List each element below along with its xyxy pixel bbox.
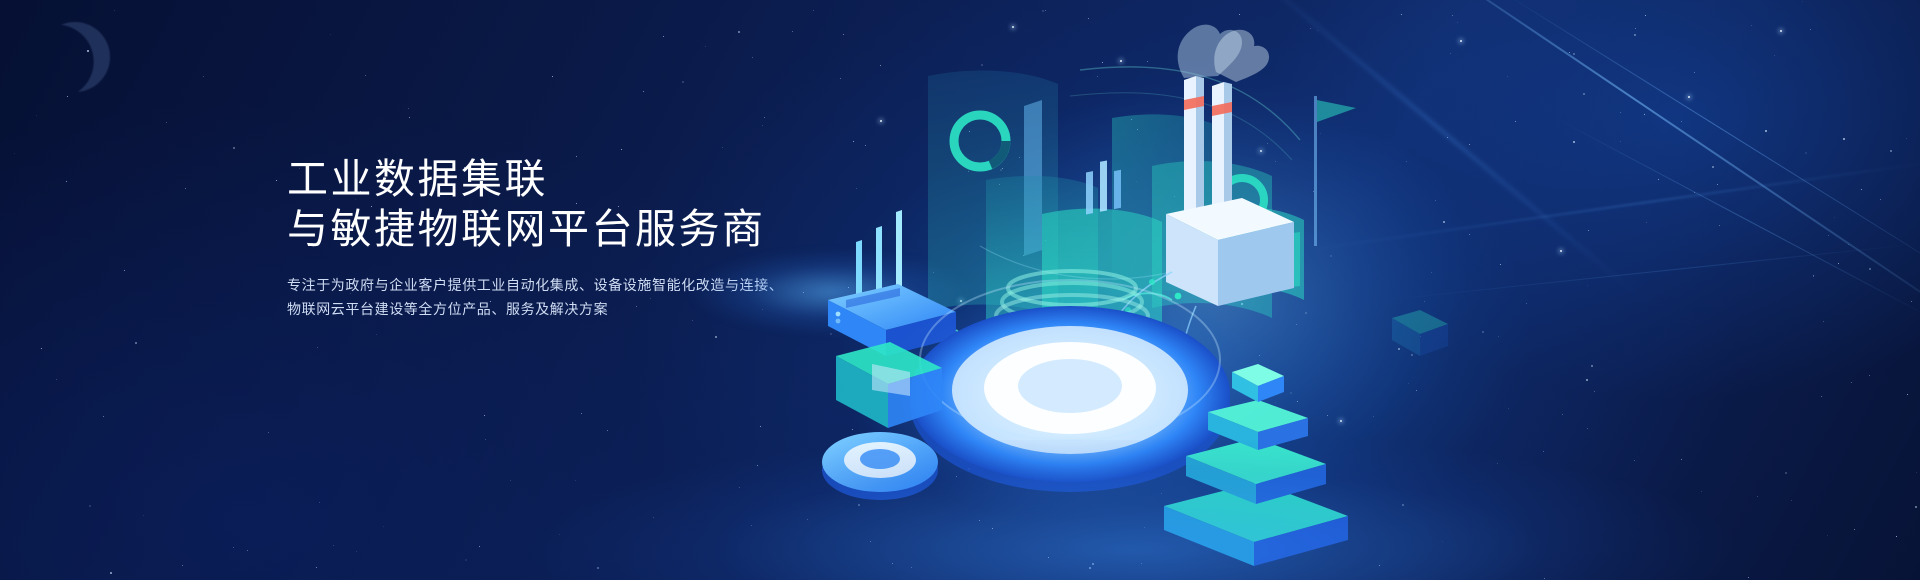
hero-banner: 工业数据集联 与敏捷物联网平台服务商 专注于为政府与企业客户提供工业自动化集成、… xyxy=(0,0,1920,580)
chimney xyxy=(1184,76,1196,216)
illustration-isometric-iot xyxy=(780,0,1920,580)
router-led xyxy=(836,312,841,317)
subtitle-line-1: 专注于为政府与企业客户提供工业自动化集成、设备设施智能化改造与连接、 xyxy=(287,273,847,297)
chimney-side xyxy=(1224,82,1232,214)
hero-subtitle: 专注于为政府与企业客户提供工业自动化集成、设备设施智能化改造与连接、 物联网云平… xyxy=(287,273,847,321)
disc-center xyxy=(1018,359,1122,413)
crescent-moon-icon xyxy=(31,13,119,101)
subtitle-line-2: 物联网云平台建设等全方位产品、服务及解决方案 xyxy=(287,297,847,321)
gauge-center xyxy=(860,449,900,469)
page-title: 工业数据集联 与敏捷物联网平台服务商 xyxy=(287,154,847,254)
hero-copy-block: 工业数据集联 与敏捷物联网平台服务商 专注于为政府与企业客户提供工业自动化集成、… xyxy=(287,154,847,321)
headline-line-1: 工业数据集联 xyxy=(287,156,548,202)
router-led xyxy=(836,319,841,324)
cylinder-gauge xyxy=(822,432,938,500)
illustration-svg xyxy=(780,0,1920,580)
chimney xyxy=(1212,82,1224,218)
headline-line-2: 与敏捷物联网平台服务商 xyxy=(287,204,847,254)
